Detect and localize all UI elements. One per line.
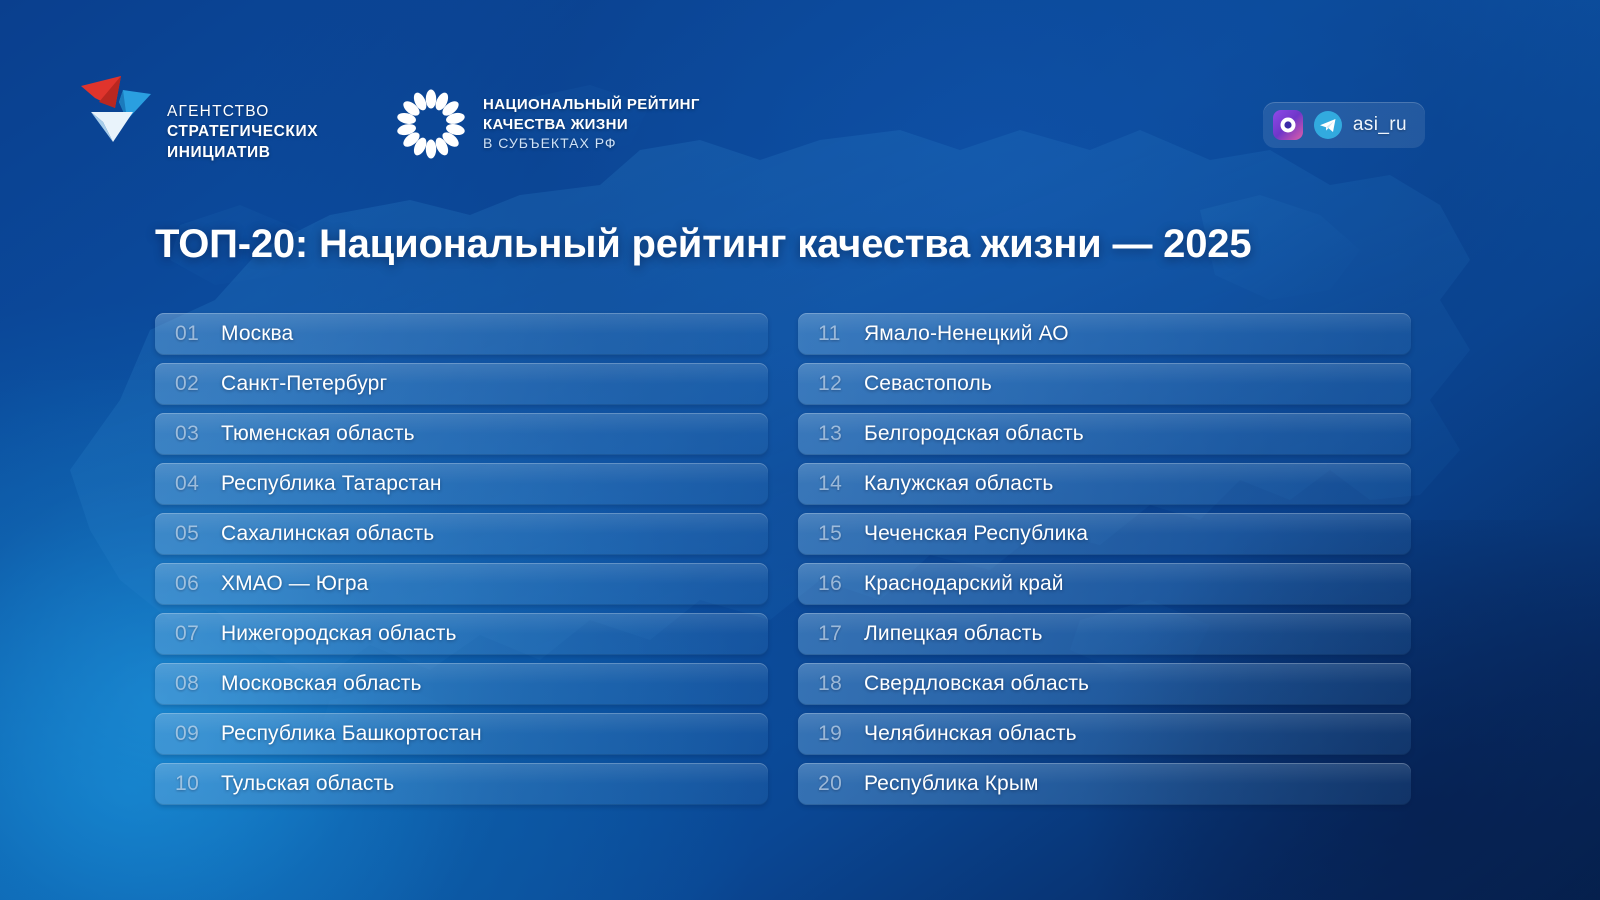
rating-logo-line3: В СУБЪЕКТАХ РФ <box>483 134 700 152</box>
asi-logo-text: АГЕНТСТВО СТРАТЕГИЧЕСКИХ ИНИЦИАТИВ <box>167 102 318 163</box>
infographic-slide: АГЕНТСТВО СТРАТЕГИЧЕСКИХ ИНИЦИАТИВ <box>0 0 1600 900</box>
rank-region-name: Краснодарский край <box>864 572 1064 596</box>
rank-region-name: Республика Крым <box>864 772 1039 796</box>
ranking-columns: 01Москва 02Санкт-Петербург 03Тюменская о… <box>155 313 1420 805</box>
rank-region-name: Белгородская область <box>864 422 1084 446</box>
rank-number: 19 <box>818 722 864 746</box>
rank-region-name: Свердловская область <box>864 672 1089 696</box>
rank-row[interactable]: 16Краснодарский край <box>798 563 1411 605</box>
rank-number: 09 <box>175 722 221 746</box>
ranking-column-right: 11Ямало-Ненецкий АО 12Севастополь 13Белг… <box>798 313 1411 805</box>
rank-row[interactable]: 07Нижегородская область <box>155 613 768 655</box>
rank-row[interactable]: 19Челябинская область <box>798 713 1411 755</box>
rank-row[interactable]: 06ХМАО — Югра <box>155 563 768 605</box>
rank-number: 17 <box>818 622 864 646</box>
rank-number: 06 <box>175 572 221 596</box>
rank-row[interactable]: 12Севастополь <box>798 363 1411 405</box>
rank-row[interactable]: 09Республика Башкортостан <box>155 713 768 755</box>
rank-number: 10 <box>175 772 221 796</box>
rank-region-name: Ямало-Ненецкий АО <box>864 322 1069 346</box>
rank-row[interactable]: 04Республика Татарстан <box>155 463 768 505</box>
asi-logo: АГЕНТСТВО СТРАТЕГИЧЕСКИХ ИНИЦИАТИВ <box>75 68 318 163</box>
rank-region-name: Чеченская Республика <box>864 522 1088 546</box>
rank-row[interactable]: 17Липецкая область <box>798 613 1411 655</box>
rank-number: 03 <box>175 422 221 446</box>
rank-region-name: Сахалинская область <box>221 522 434 546</box>
rank-number: 08 <box>175 672 221 696</box>
rank-region-name: Санкт-Петербург <box>221 372 387 396</box>
rank-row[interactable]: 11Ямало-Ненецкий АО <box>798 313 1411 355</box>
rank-row[interactable]: 03Тюменская область <box>155 413 768 455</box>
rank-number: 01 <box>175 322 221 346</box>
rank-row[interactable]: 01Москва <box>155 313 768 355</box>
rank-number: 04 <box>175 472 221 496</box>
rank-region-name: ХМАО — Югра <box>221 572 368 596</box>
social-handle-badge[interactable]: asi_ru <box>1263 102 1425 148</box>
rank-number: 18 <box>818 672 864 696</box>
rank-region-name: Тюменская область <box>221 422 415 446</box>
rank-region-name: Липецкая область <box>864 622 1042 646</box>
rank-number: 05 <box>175 522 221 546</box>
rank-number: 14 <box>818 472 864 496</box>
rank-number: 02 <box>175 372 221 396</box>
rank-region-name: Нижегородская область <box>221 622 457 646</box>
ranking-column-left: 01Москва 02Санкт-Петербург 03Тюменская о… <box>155 313 768 805</box>
asi-logo-line2: СТРАТЕГИЧЕСКИХ <box>167 122 318 142</box>
rank-region-name: Севастополь <box>864 372 992 396</box>
asi-logo-line1: АГЕНТСТВО <box>167 102 318 122</box>
rank-row[interactable]: 05Сахалинская область <box>155 513 768 555</box>
rank-number: 16 <box>818 572 864 596</box>
rank-row[interactable]: 20Республика Крым <box>798 763 1411 805</box>
rank-row[interactable]: 13Белгородская область <box>798 413 1411 455</box>
social-handle-label: asi_ru <box>1353 114 1407 136</box>
rank-row[interactable]: 18Свердловская область <box>798 663 1411 705</box>
rank-number: 11 <box>818 322 864 346</box>
rank-row[interactable]: 15Чеченская Республика <box>798 513 1411 555</box>
rank-number: 13 <box>818 422 864 446</box>
national-rating-logo: НАЦИОНАЛЬНЫЙ РЕЙТИНГ КАЧЕСТВА ЖИЗНИ В СУ… <box>395 88 700 160</box>
asi-arrow-logo-icon <box>75 68 155 150</box>
rank-row[interactable]: 02Санкт-Петербург <box>155 363 768 405</box>
header: АГЕНТСТВО СТРАТЕГИЧЕСКИХ ИНИЦИАТИВ <box>0 0 1600 200</box>
rank-region-name: Челябинская область <box>864 722 1077 746</box>
rank-region-name: Республика Башкортостан <box>221 722 482 746</box>
asi-logo-line3: ИНИЦИАТИВ <box>167 143 318 163</box>
national-rating-logo-text: НАЦИОНАЛЬНЫЙ РЕЙТИНГ КАЧЕСТВА ЖИЗНИ В СУ… <box>483 95 700 152</box>
rank-region-name: Республика Татарстан <box>221 472 442 496</box>
rank-number: 20 <box>818 772 864 796</box>
max-messenger-icon[interactable] <box>1273 110 1303 140</box>
rating-logo-line2: КАЧЕСТВА ЖИЗНИ <box>483 115 700 135</box>
rank-region-name: Тульская область <box>221 772 394 796</box>
rank-row[interactable]: 14Калужская область <box>798 463 1411 505</box>
rank-number: 12 <box>818 372 864 396</box>
rank-row[interactable]: 10Тульская область <box>155 763 768 805</box>
flower-logo-icon <box>395 88 467 160</box>
rank-region-name: Москва <box>221 322 293 346</box>
rating-logo-line1: НАЦИОНАЛЬНЫЙ РЕЙТИНГ <box>483 95 700 115</box>
rank-region-name: Калужская область <box>864 472 1053 496</box>
rank-row[interactable]: 08Московская область <box>155 663 768 705</box>
page-title: ТОП-20: Национальный рейтинг качества жи… <box>155 222 1455 267</box>
rank-region-name: Московская область <box>221 672 422 696</box>
telegram-icon[interactable] <box>1313 110 1343 140</box>
rank-number: 07 <box>175 622 221 646</box>
rank-number: 15 <box>818 522 864 546</box>
